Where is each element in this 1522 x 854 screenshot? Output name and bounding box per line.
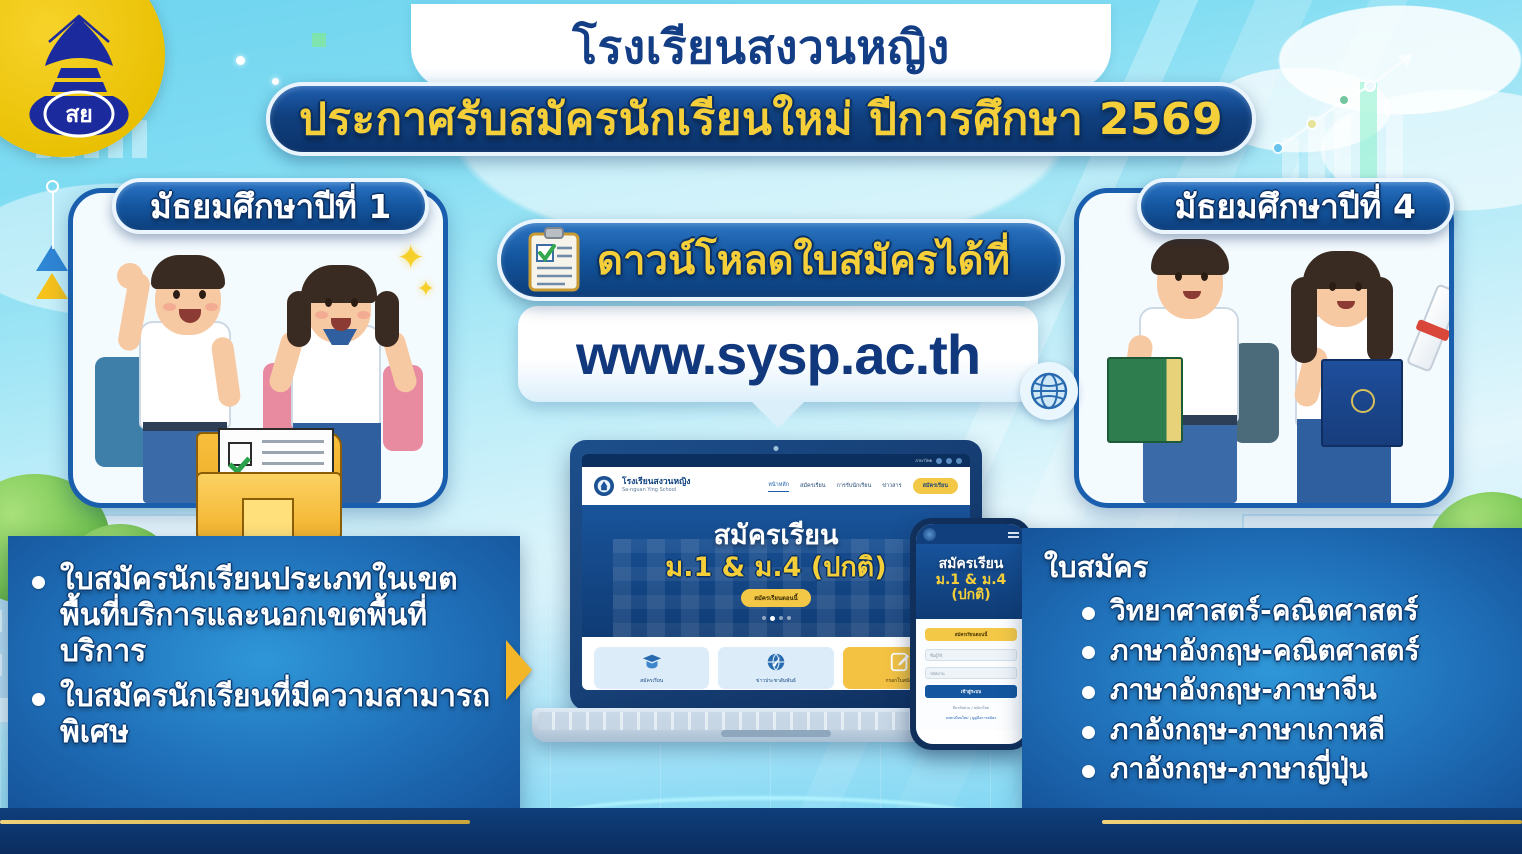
announcement-banner: ประกาศรับสมัครนักเรียนใหม่ ปีการศึกษา 25…	[266, 82, 1256, 156]
site-card-1-label: ข่าวประชาสัมพันธ์	[756, 677, 796, 685]
site-card-1[interactable]: ข่าวประชาสัมพันธ์	[718, 647, 833, 689]
list-item: ภาอังกฤษ-ภาษาเกาหลี	[1072, 713, 1506, 747]
site-hero-line2: ม.1 & ม.4 (ปกติ)	[665, 554, 886, 581]
site-language-label[interactable]: ภาษาไทย	[915, 457, 932, 464]
carousel-dot[interactable]	[779, 616, 783, 620]
site-nav-item-2[interactable]: การรับนักเรียน	[836, 482, 871, 490]
phone-login-form: สมัครเรียนตอนนี้ ชื่อผู้ใช้ รหัสผ่าน เข้…	[916, 619, 1026, 730]
site-nav-item-0[interactable]: หน้าหลัก	[768, 481, 789, 492]
site-hero-line1: สมัครเรียน	[714, 522, 839, 549]
site-nav-item-1[interactable]: สมัครเรียน	[800, 482, 825, 490]
social-icon[interactable]	[936, 458, 942, 464]
program-list: วิทยาศาสตร์-คณิตศาสตร์ ภาษาอังกฤษ-คณิตศา…	[1044, 594, 1506, 786]
website-url-bubble[interactable]: www.sysp.ac.th	[518, 306, 1038, 402]
folder-checklist-icon	[196, 432, 342, 540]
chevron-right-icon	[506, 640, 532, 700]
carousel-dots[interactable]	[762, 616, 791, 621]
phone-topbar	[916, 524, 1026, 544]
grade-badge-m1-label: มัธยมศึกษาปีที่ 1	[150, 180, 391, 233]
panel-application-types: ใบสมัครนักเรียนประเภทในเขตพื้นที่บริการแ…	[8, 536, 520, 812]
graduate-icon	[641, 651, 663, 673]
site-nav-cta-button[interactable]: สมัครเรียน	[913, 478, 958, 494]
website-url: www.sysp.ac.th	[576, 322, 980, 387]
school-logo-badge: สย	[0, 0, 165, 157]
svg-text:สย: สย	[65, 102, 93, 128]
phone-password-input[interactable]: รหัสผ่าน	[925, 667, 1017, 679]
application-type-list: ใบสมัครนักเรียนประเภทในเขตพื้นที่บริการแ…	[22, 562, 498, 751]
social-icon[interactable]	[946, 458, 952, 464]
phone-hero: สมัครเรียน ม.1 & ม.4 (ปกติ)	[916, 544, 1026, 619]
phone-hero-line3: (ปกติ)	[922, 588, 1020, 604]
site-card-0-label: สมัครเรียน	[640, 677, 663, 685]
site-brand-en: Sa-nguan Ying School	[622, 488, 690, 494]
site-brand: โรงเรียนสงวนหญิง Sa-nguan Ying School	[622, 478, 690, 494]
site-card-0[interactable]: สมัครเรียน	[594, 647, 709, 689]
social-icon[interactable]	[956, 458, 962, 464]
phone-hero-line2: ม.1 & ม.4	[922, 573, 1020, 589]
carousel-dot-active[interactable]	[770, 616, 775, 621]
sparkle-icon: ✦	[417, 279, 435, 301]
globe-icon	[1020, 362, 1078, 420]
phone-forgot-link[interactable]: ลืมรหัสผ่าน / สมัครใหม่	[925, 705, 1017, 711]
list-item: ใบสมัครนักเรียนประเภทในเขตพื้นที่บริการแ…	[22, 562, 498, 670]
clipboard-check-icon	[527, 227, 581, 293]
sparkle-icon: ✦	[397, 241, 426, 275]
grade-badge-m4: มัธยมศึกษาปีที่ 4	[1137, 178, 1454, 234]
globe-network-icon	[765, 651, 787, 673]
device-mockups: ภาษาไทย โรงเรียนสงวนหญิง Sa-nguan Ying S…	[502, 440, 1062, 820]
gold-accent-right	[1102, 820, 1522, 824]
site-nav-links: หน้าหลัก สมัครเรียน การรับนักเรียน ข่าวส…	[768, 478, 958, 494]
bottom-band	[0, 808, 1522, 854]
carousel-dot[interactable]	[762, 616, 766, 620]
m4-students-illustration	[1079, 193, 1449, 503]
map-pin-decoration	[36, 180, 68, 299]
list-item: ภาษาอังกฤษ-คณิตศาสตร์	[1072, 634, 1506, 668]
diploma-scroll-icon	[1406, 283, 1454, 372]
hamburger-menu-icon[interactable]	[1008, 530, 1019, 538]
square-decoration	[312, 33, 326, 47]
list-item: วิทยาศาสตร์-คณิตศาสตร์	[1072, 594, 1506, 628]
grade-badge-m1: มัธยมศึกษาปีที่ 1	[112, 178, 429, 234]
phone-username-input[interactable]: ชื่อผู้ใช้	[925, 649, 1017, 661]
site-nav-item-3[interactable]: ข่าวสาร	[882, 482, 901, 490]
growth-chart-icon	[1260, 20, 1510, 200]
school-name-banner: โรงเรียนสงวนหญิง	[411, 4, 1111, 90]
list-item: ใบสมัครนักเรียนที่มีความสามารถพิเศษ	[22, 679, 498, 751]
panel-programs-title: ใบสมัคร	[1044, 544, 1506, 590]
phone-screen: สมัครเรียน ม.1 & ม.4 (ปกติ) สมัครเรียนตอ…	[916, 524, 1026, 744]
site-navbar: โรงเรียนสงวนหญิง Sa-nguan Ying School หน…	[582, 467, 970, 505]
list-item: ภาษาอังกฤษ-ภาษาจีน	[1072, 673, 1506, 707]
download-cta-banner[interactable]: ดาวน์โหลดใบสมัครได้ที่	[497, 219, 1065, 301]
phone-hero-line1: สมัครเรียน	[922, 557, 1020, 573]
edit-document-icon	[889, 651, 911, 673]
phone-primary-button[interactable]: สมัครเรียนตอนนี้	[925, 628, 1017, 641]
site-topbar: ภาษาไทย	[582, 454, 970, 467]
gold-accent-left	[0, 820, 470, 824]
phone-logo-icon[interactable]	[923, 528, 936, 541]
list-item: ภาอังกฤษ-ภาษาญี่ปุ่น	[1072, 752, 1506, 786]
phone-submit-button[interactable]: เข้าสู่ระบบ	[925, 685, 1017, 698]
phone-mockup: สมัครเรียน ม.1 & ม.4 (ปกติ) สมัครเรียนตอ…	[910, 518, 1032, 750]
panel-programs: ใบสมัคร วิทยาศาสตร์-คณิตศาสตร์ ภาษาอังกฤ…	[1022, 528, 1522, 812]
school-crest-icon: สย	[19, 10, 139, 138]
admission-poster: สย โรงเรียนสงวนหญิง ประกาศรับสมัครนักเรี…	[0, 0, 1522, 854]
carousel-dot[interactable]	[787, 616, 791, 620]
download-cta-label: ดาวน์โหลดใบสมัครได้ที่	[597, 228, 1010, 292]
school-name: โรงเรียนสงวนหญิง	[572, 11, 950, 84]
grade-card-m4	[1074, 188, 1454, 508]
phone-register-link[interactable]: ลงทะเบียนใหม่ | ดูคู่มือการสมัคร	[925, 715, 1017, 721]
announcement-text: ประกาศรับสมัครนักเรียนใหม่ ปีการศึกษา 25…	[299, 84, 1223, 154]
grade-badge-m4-label: มัธยมศึกษาปีที่ 4	[1175, 180, 1416, 233]
site-hero-button[interactable]: สมัครเรียนตอนนี้	[741, 589, 810, 607]
site-logo-icon[interactable]	[594, 476, 614, 496]
